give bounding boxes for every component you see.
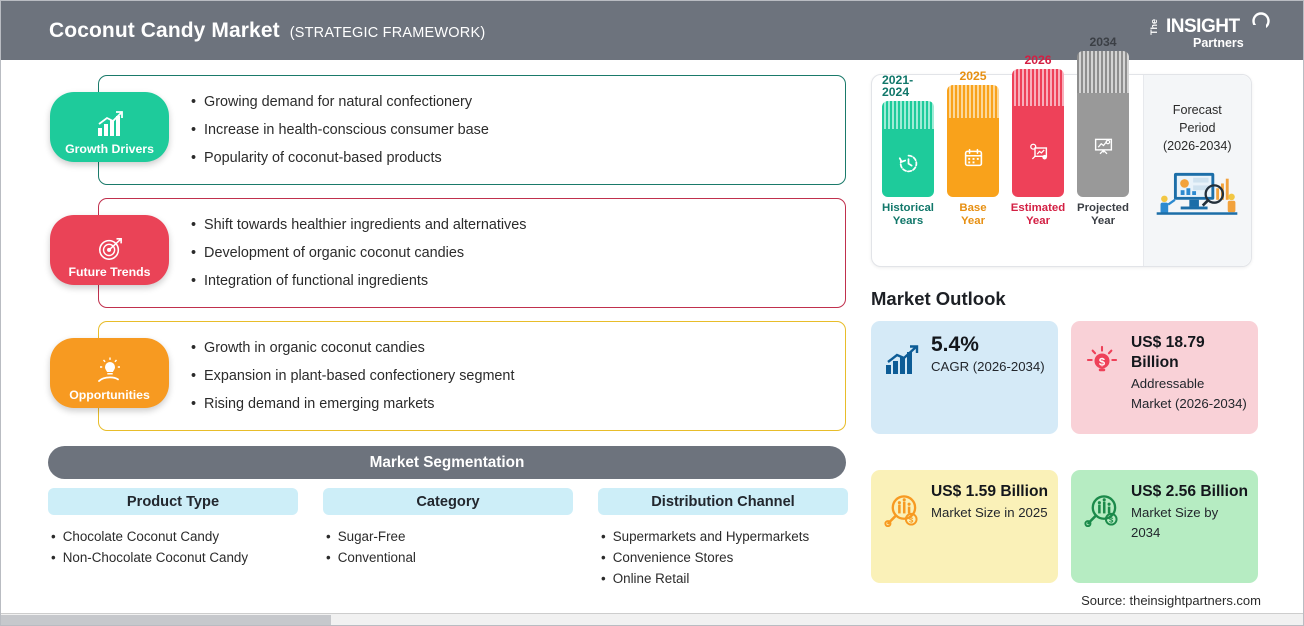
forecast-label-line: Period	[1179, 119, 1215, 137]
segmentation-column-product-type: Product Type Chocolate Coconut Candy Non…	[48, 488, 298, 589]
market-outlook-title: Market Outlook	[871, 288, 1006, 310]
insight-partners-logo: The INSIGHT Partners	[1148, 10, 1273, 52]
bar-body	[1077, 51, 1129, 197]
svg-text:Partners: Partners	[1193, 36, 1244, 50]
page-subtitle: (STRATEGIC FRAMEWORK)	[290, 25, 486, 41]
segmentation-column-distribution-channel: Distribution Channel Supermarkets and Hy…	[598, 488, 848, 589]
forecast-bar-base: 2025	[947, 70, 999, 228]
segmentation-title: Market Segmentation	[370, 454, 525, 472]
bullet-item: Integration of functional ingredients	[191, 267, 526, 295]
outlook-card-text: US$ 1.59 Billion Market Size in 2025	[931, 482, 1048, 583]
dashboard-analytics-illustration	[1149, 167, 1245, 228]
bullet-item: Rising demand in emerging markets	[191, 390, 514, 418]
segmentation-item-list: Supermarkets and Hypermarkets Convenienc…	[598, 526, 848, 589]
outlook-card-text: US$ 2.56 Billion Market Size by 2034	[1131, 482, 1248, 583]
outlook-value: 5.4%	[931, 333, 1048, 356]
lightbulb-dollar-icon: $	[1080, 333, 1124, 434]
forecast-bars-area: 2021-2024 HistoricalYears	[872, 75, 1143, 266]
outlook-card-addressable-market: $ US$ 18.79 Billion Addressable Market (…	[1071, 321, 1258, 434]
lightbulb-hand-icon	[95, 357, 125, 385]
segmentation-column-category: Category Sugar-Free Conventional	[323, 488, 573, 589]
outlook-label: Market Size in 2025	[931, 503, 1048, 523]
forecast-label-line: (2026-2034)	[1163, 137, 1232, 155]
bullet-list-growth-drivers: Growing demand for natural confectionery…	[191, 88, 489, 172]
magnifier-chart-dollar-icon: $	[1080, 482, 1124, 583]
outlook-label: CAGR (2026-2034)	[931, 357, 1048, 377]
list-item: Online Retail	[601, 568, 848, 589]
badge-growth-drivers[interactable]: Growth Drivers	[50, 92, 169, 162]
bar-chart-arrow-icon	[95, 111, 125, 139]
bullet-item: Shift towards healthier ingredients and …	[191, 211, 526, 239]
segmentation-column-header: Category	[323, 488, 573, 515]
bar-caption: BaseYear	[959, 202, 986, 228]
svg-text:INSIGHT: INSIGHT	[1166, 16, 1240, 37]
bar-year-label: 2026	[1024, 54, 1051, 66]
calendar-icon	[947, 118, 999, 197]
bullet-item: Growing demand for natural confectionery	[191, 88, 489, 116]
segmentation-column-header: Product Type	[48, 488, 298, 515]
bullet-list-opportunities: Growth in organic coconut candies Expans…	[191, 334, 514, 418]
forecast-bar-estimated: 2026 Estimated	[1012, 54, 1064, 228]
badge-opportunities[interactable]: Opportunities	[50, 338, 169, 408]
outlook-label: Addressable Market (2026-2034)	[1131, 374, 1248, 414]
bullet-item: Popularity of coconut-based products	[191, 144, 489, 172]
list-item: Supermarkets and Hypermarkets	[601, 526, 848, 547]
forecast-bar-historical: 2021-2024 HistoricalYears	[882, 74, 934, 228]
bullet-list-future-trends: Shift towards healthier ingredients and …	[191, 211, 526, 295]
clock-history-icon	[882, 129, 934, 197]
growth-bar-chart-icon	[880, 333, 924, 434]
list-item: Sugar-Free	[326, 526, 573, 547]
segmentation-column-header: Distribution Channel	[598, 488, 848, 515]
analytics-gear-icon	[1012, 106, 1064, 197]
target-dart-icon	[95, 234, 125, 262]
badge-label: Growth Drivers	[65, 143, 154, 155]
segmentation-item-list: Sugar-Free Conventional	[323, 526, 573, 568]
bar-caption: EstimatedYear	[1011, 202, 1065, 228]
svg-text:$: $	[1109, 516, 1114, 525]
forecast-period-side: Forecast Period (2026-2034)	[1143, 75, 1251, 266]
bar-body	[1012, 69, 1064, 197]
list-item: Non-Chocolate Coconut Candy	[51, 547, 298, 568]
page-title: Coconut Candy Market	[49, 19, 280, 43]
bar-stripe-section	[882, 101, 934, 129]
bullet-item: Increase in health-conscious consumer ba…	[191, 116, 489, 144]
infographic-page: Coconut Candy Market (STRATEGIC FRAMEWOR…	[0, 0, 1304, 626]
segmentation-columns: Product Type Chocolate Coconut Candy Non…	[48, 488, 848, 589]
horizontal-scrollbar[interactable]	[1, 613, 1304, 625]
bar-caption: ProjectedYear	[1077, 202, 1129, 228]
magnifier-chart-dollar-icon: $	[880, 482, 924, 583]
outlook-value: US$ 2.56 Billion	[1131, 482, 1248, 502]
outlook-card-text: US$ 18.79 Billion Addressable Market (20…	[1131, 333, 1248, 434]
source-attribution: Source: theinsightpartners.com	[1081, 593, 1261, 608]
forecast-bar-projected: 2034 ProjectedYear	[1077, 36, 1129, 228]
outlook-value: US$ 18.79 Billion	[1131, 333, 1248, 373]
outlook-label: Market Size by 2034	[1131, 503, 1248, 543]
badge-label: Future Trends	[69, 266, 151, 278]
svg-text:$: $	[909, 516, 914, 525]
bar-stripe-section	[947, 85, 999, 118]
forecast-label-line: Forecast	[1173, 101, 1222, 119]
outlook-card-market-size-2025: $ US$ 1.59 Billion Market Size in 2025	[871, 470, 1058, 583]
outlook-value: US$ 1.59 Billion	[931, 482, 1048, 502]
bar-stripe-section	[1077, 51, 1129, 93]
header-title-group: Coconut Candy Market (STRATEGIC FRAMEWOR…	[49, 19, 485, 43]
forecast-period-panel: 2021-2024 HistoricalYears	[871, 74, 1252, 267]
outlook-card-cagr: 5.4% CAGR (2026-2034)	[871, 321, 1058, 434]
bar-caption: HistoricalYears	[882, 202, 934, 228]
bar-year-label: 2025	[959, 70, 986, 82]
bullet-item: Development of organic coconut candies	[191, 239, 526, 267]
segmentation-item-list: Chocolate Coconut Candy Non-Chocolate Co…	[48, 526, 298, 568]
list-item: Conventional	[326, 547, 573, 568]
bar-body	[947, 85, 999, 197]
svg-text:$: $	[1099, 357, 1106, 369]
bar-year-label: 2021-2024	[882, 74, 934, 98]
bar-body	[882, 101, 934, 197]
market-segmentation-header: Market Segmentation	[48, 446, 846, 479]
presentation-chart-icon	[1077, 93, 1129, 197]
bar-stripe-section	[1012, 69, 1064, 106]
outlook-card-market-size-2034: $ US$ 2.56 Billion Market Size by 2034	[1071, 470, 1258, 583]
svg-text:The: The	[1149, 19, 1159, 35]
bullet-item: Expansion in plant-based confectionery s…	[191, 362, 514, 390]
bullet-item: Growth in organic coconut candies	[191, 334, 514, 362]
bar-year-label: 2034	[1089, 36, 1116, 48]
badge-future-trends[interactable]: Future Trends	[50, 215, 169, 285]
framework-column: Growth Drivers Growing demand for natura…	[1, 60, 861, 620]
scrollbar-thumb[interactable]	[1, 615, 331, 625]
outlook-column: 2021-2024 HistoricalYears	[867, 60, 1304, 620]
outlook-card-text: 5.4% CAGR (2026-2034)	[931, 333, 1048, 434]
badge-label: Opportunities	[69, 389, 150, 401]
list-item: Chocolate Coconut Candy	[51, 526, 298, 547]
list-item: Convenience Stores	[601, 547, 848, 568]
